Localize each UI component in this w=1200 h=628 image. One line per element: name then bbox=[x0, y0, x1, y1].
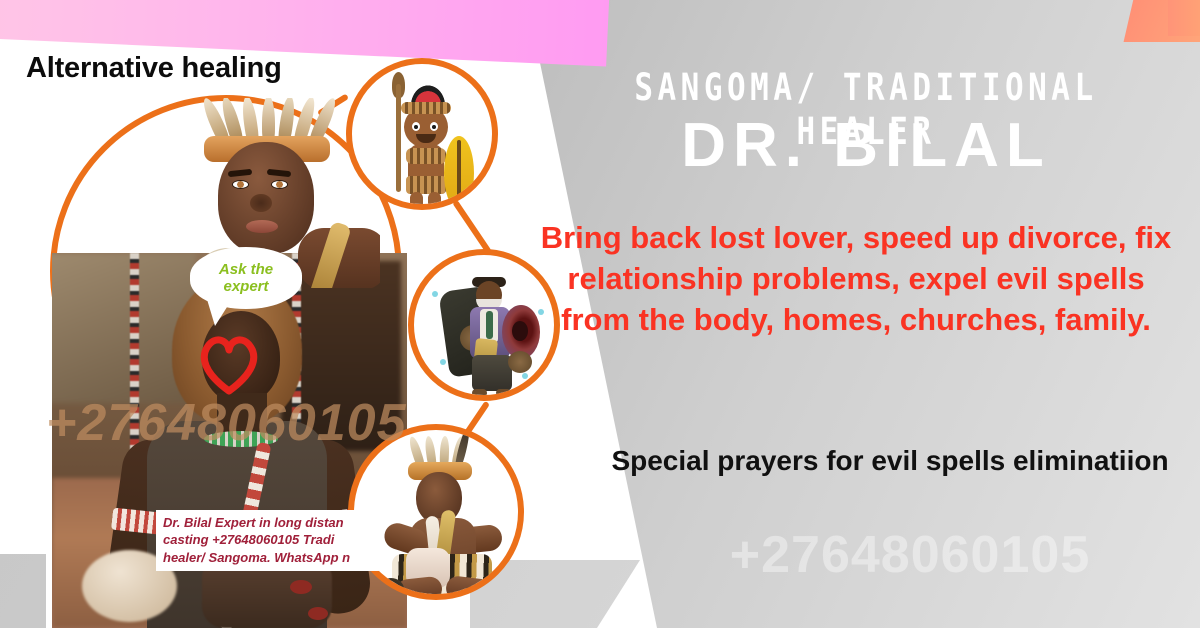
cartoon-pupil-right bbox=[432, 125, 436, 129]
shield-boss bbox=[512, 321, 528, 341]
eye-left bbox=[232, 180, 249, 189]
photo-caption-box: Dr. Bilal Expert in long distan casting … bbox=[156, 510, 384, 571]
sparkle-icon bbox=[440, 359, 446, 365]
photo-red-detail bbox=[308, 607, 328, 620]
figure-tie bbox=[486, 311, 493, 339]
eye-right bbox=[271, 180, 288, 189]
photo-red-detail bbox=[290, 580, 312, 594]
orange-band bbox=[1168, 0, 1200, 36]
phone-watermark: +27648060105 bbox=[640, 525, 1180, 585]
figure-legs bbox=[472, 355, 512, 391]
connector-line-upper bbox=[452, 200, 492, 255]
speech-bubble: Ask the expert bbox=[190, 247, 302, 309]
heart-icon bbox=[196, 333, 262, 395]
doctor-name-title: DR. BILAL bbox=[556, 112, 1176, 180]
alternative-healing-heading: Alternative healing bbox=[26, 52, 282, 85]
photo-phone-watermark: +27648060105 bbox=[46, 393, 407, 453]
figure-foot-right bbox=[496, 389, 511, 397]
headdress-plume-red bbox=[408, 84, 448, 104]
nose bbox=[250, 194, 272, 212]
sparkle-icon bbox=[522, 373, 528, 379]
mouth bbox=[246, 220, 278, 233]
cartoon-pupil-left bbox=[414, 125, 418, 129]
prayers-text: Special prayers for evil spells eliminat… bbox=[600, 442, 1180, 481]
shield-spine bbox=[457, 140, 461, 206]
cartoon-chest-band bbox=[406, 148, 446, 164]
caption-line-3: healer/ Sangoma. WhatsApp n bbox=[163, 549, 378, 566]
poster-canvas: Alternative healing bbox=[0, 0, 1200, 628]
caption-line-2: casting +27648060105 Tradi bbox=[163, 531, 378, 548]
cartoon-leg-right bbox=[428, 192, 441, 210]
cartoon-headband bbox=[401, 102, 451, 114]
caption-line-1: Dr. Bilal Expert in long distan bbox=[163, 514, 378, 531]
figure-satchel-second bbox=[508, 351, 532, 373]
circle-cartoon-warrior bbox=[346, 58, 498, 210]
cartoon-skirt bbox=[406, 176, 446, 194]
sparkle-icon bbox=[432, 291, 438, 297]
cartoon-leg-left bbox=[410, 192, 423, 210]
spear-icon bbox=[396, 84, 401, 192]
speech-bubble-text: Ask the expert bbox=[209, 261, 283, 296]
figure-foot-left bbox=[472, 389, 487, 397]
services-text: Bring back lost lover, speed up divorce,… bbox=[530, 218, 1182, 341]
